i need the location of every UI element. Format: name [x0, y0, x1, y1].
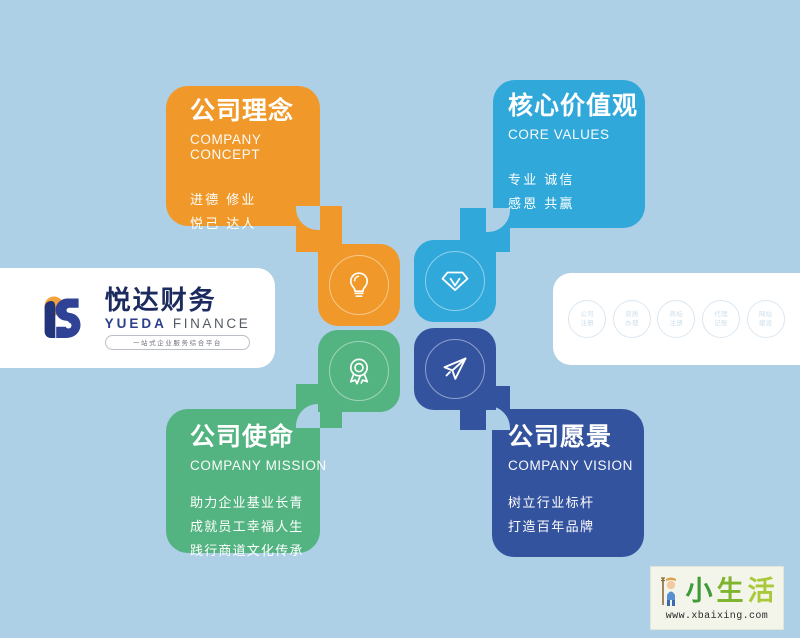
icon-tile-values — [414, 240, 496, 322]
card-values-content: 核心价值观 CORE VALUES 专业 诚信 感恩 共赢 — [508, 93, 648, 216]
card-values-line-1: 专业 诚信 — [508, 168, 648, 192]
watermark-char-2: 生 — [717, 578, 744, 605]
watermark-char-1: 小 — [686, 578, 713, 605]
card-vision-subtitle: COMPANY VISION — [508, 458, 648, 473]
card-values-line-2: 感恩 共赢 — [508, 192, 648, 216]
service-badge-website[interactable]: 网站 建设 — [747, 300, 785, 338]
icon-tile-concept — [318, 244, 400, 326]
medal-icon — [344, 355, 374, 387]
icon-tile-vision — [414, 328, 496, 410]
card-vision-line-1: 树立行业标杆 — [508, 491, 648, 515]
yueda-monogram-icon — [37, 289, 95, 347]
icon-tile-mission — [318, 330, 400, 412]
card-concept-lines: 进德 修业 悦己 达人 — [190, 188, 330, 236]
lightbulb-icon — [345, 270, 373, 300]
watermark-url: www.xbaixing.com — [666, 611, 768, 622]
service-label-line2: 建设 — [759, 319, 773, 328]
card-mission-line-3: 践行商道文化传承 — [190, 539, 335, 563]
card-vision-title: 公司愿景 — [508, 424, 648, 452]
diamond-icon-ring — [425, 251, 485, 311]
logo-name-cn: 悦达财务 — [105, 287, 251, 313]
card-concept-content: 公司理念 COMPANY CONCEPT 进德 修业 悦己 达人 — [190, 98, 330, 236]
service-label-line2: 记账 — [714, 319, 728, 328]
logo-name-en-secondary: FINANCE — [173, 316, 250, 331]
service-label-line2: 注册 — [670, 319, 684, 328]
card-concept-title: 公司理念 — [190, 98, 330, 126]
logo-panel: 悦达财务 YUEDA FINANCE 一站式企业服务综合平台 — [0, 268, 275, 368]
service-label-line1: 代理 — [714, 310, 728, 319]
card-values-title: 核心价值观 — [508, 93, 648, 121]
watermark-char-3: 活 — [748, 578, 775, 605]
service-label-line1: 公司 — [580, 310, 594, 319]
services-panel: 公司 注册 资质 办理 商标 注册 代理 记账 网站 建设 — [553, 273, 800, 365]
service-label-line2: 注册 — [580, 319, 594, 328]
diamond-icon — [439, 266, 471, 296]
watermark-logo: 小 生 活 — [660, 574, 775, 608]
logo-name-en: YUEDA FINANCE — [105, 316, 251, 331]
medal-icon-ring — [329, 341, 389, 401]
card-vision-lines: 树立行业标杆 打造百年品牌 — [508, 491, 648, 539]
logo-name-en-primary: YUEDA — [105, 316, 167, 331]
card-vision-line-2: 打造百年品牌 — [508, 515, 648, 539]
service-badge-qualification[interactable]: 资质 办理 — [613, 300, 651, 338]
card-concept-line-2: 悦己 达人 — [190, 212, 330, 236]
paper-plane-icon-ring — [425, 339, 485, 399]
card-mission-title: 公司使命 — [190, 424, 335, 452]
card-mission-subtitle: COMPANY MISSION — [190, 458, 335, 473]
service-badge-bookkeeping[interactable]: 代理 记账 — [702, 300, 740, 338]
service-label-line2: 办理 — [625, 319, 639, 328]
logo-mark-icon — [37, 289, 95, 347]
service-label-line1: 资质 — [625, 310, 639, 319]
farmer-mascot-icon — [660, 574, 682, 608]
card-values-subtitle: CORE VALUES — [508, 127, 648, 142]
card-mission-line-1: 助力企业基业长青 — [190, 491, 335, 515]
lightbulb-icon-ring — [329, 255, 389, 315]
service-label-line1: 网站 — [759, 310, 773, 319]
paper-plane-icon — [439, 353, 471, 385]
card-mission-lines: 助力企业基业长青 成就员工幸福人生 践行商道文化传承 — [190, 491, 335, 563]
logo-text: 悦达财务 YUEDA FINANCE 一站式企业服务综合平台 — [105, 287, 251, 350]
service-label-line1: 商标 — [670, 310, 684, 319]
watermark: 小 生 活 www.xbaixing.com — [650, 566, 784, 630]
infographic-canvas: 公司理念 COMPANY CONCEPT 进德 修业 悦己 达人 核心价值观 C… — [0, 0, 800, 638]
card-mission-content: 公司使命 COMPANY MISSION 助力企业基业长青 成就员工幸福人生 践… — [190, 424, 335, 563]
logo-tagline: 一站式企业服务综合平台 — [105, 335, 251, 350]
card-mission-line-2: 成就员工幸福人生 — [190, 515, 335, 539]
logo: 悦达财务 YUEDA FINANCE 一站式企业服务综合平台 — [37, 287, 251, 350]
service-badge-company-registration[interactable]: 公司 注册 — [568, 300, 606, 338]
card-concept-subtitle: COMPANY CONCEPT — [190, 132, 330, 162]
card-concept-line-1: 进德 修业 — [190, 188, 330, 212]
card-vision-content: 公司愿景 COMPANY VISION 树立行业标杆 打造百年品牌 — [508, 424, 648, 539]
service-badge-trademark[interactable]: 商标 注册 — [657, 300, 695, 338]
card-values-lines: 专业 诚信 感恩 共赢 — [508, 168, 648, 216]
